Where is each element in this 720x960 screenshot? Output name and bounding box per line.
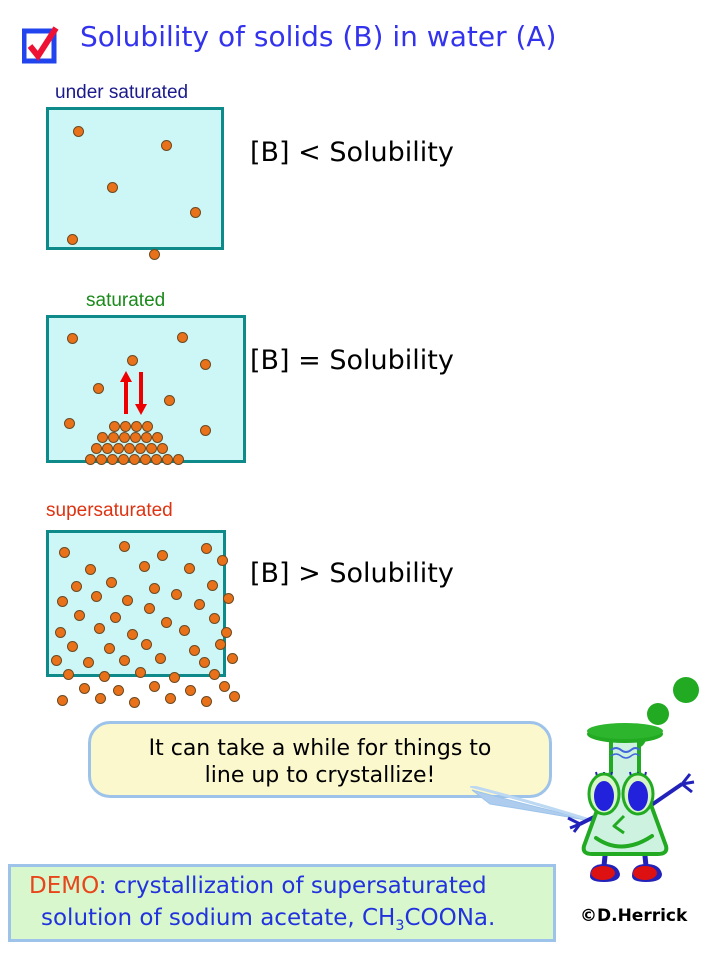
solute-particle: [215, 639, 226, 650]
speech-line-2: line up to crystallize!: [205, 763, 436, 788]
solute-particle: [169, 672, 180, 683]
solute-particle: [190, 207, 201, 218]
solute-particle: [209, 613, 220, 624]
bubble-large-icon: [673, 677, 699, 703]
undissolved-solid-particle: [162, 454, 173, 465]
solute-particle: [67, 641, 78, 652]
slide-title-row: Solubility of solids (B) in water (A): [22, 22, 682, 70]
solute-particle: [99, 671, 110, 682]
undissolved-solid-particle: [135, 443, 146, 454]
solute-particle: [149, 583, 160, 594]
solute-particle: [141, 639, 152, 650]
undissolved-solid-particle: [151, 454, 162, 465]
undissolved-solid-particle: [152, 432, 163, 443]
undissolved-solid-particle: [124, 443, 135, 454]
demo-keyword: DEMO: [29, 873, 99, 899]
solute-particle: [83, 657, 94, 668]
solute-particle: [184, 563, 195, 574]
solute-particle: [200, 359, 211, 370]
solute-particle: [104, 643, 115, 654]
solute-particle: [94, 623, 105, 634]
solute-particle: [219, 681, 230, 692]
undissolved-solid-particle: [96, 454, 107, 465]
undissolved-solid-particle: [109, 421, 120, 432]
solute-particle: [144, 603, 155, 614]
undissolved-solid-particle: [85, 454, 96, 465]
solute-particle: [57, 695, 68, 706]
solute-particle: [229, 691, 240, 702]
solute-particle: [164, 395, 175, 406]
solute-particle: [227, 653, 238, 664]
bubble-medium-icon: [647, 703, 669, 725]
equation-under-saturated: [B] < Solubility: [250, 137, 454, 168]
panel-label-saturated: saturated: [86, 290, 165, 312]
speech-line-1: It can take a while for things to: [149, 736, 492, 761]
demo-box: DEMO: crystallization of supersaturated …: [8, 864, 556, 942]
solute-particle: [113, 685, 124, 696]
solute-particle: [73, 126, 84, 137]
solute-particle: [185, 685, 196, 696]
copyright-credit: ©D.Herrick: [580, 906, 687, 926]
solute-particle: [171, 589, 182, 600]
undissolved-solid-particle: [91, 443, 102, 454]
solute-particle: [135, 667, 146, 678]
panel-label-under-saturated: under saturated: [55, 82, 188, 104]
panel-label-supersaturated: supersaturated: [46, 500, 173, 522]
solute-particle: [139, 561, 150, 572]
solute-particle: [63, 669, 74, 680]
demo-line-2-before: solution of sodium acetate, CH: [41, 905, 395, 931]
undissolved-solid-particle: [118, 454, 129, 465]
panel-supersaturated: supersaturated [B] > Solubility: [46, 500, 466, 690]
erlenmeyer-flask-character: [558, 676, 720, 888]
undissolved-solid-particle: [120, 421, 131, 432]
beaker-saturated: [46, 315, 246, 463]
undissolved-solid-particle: [173, 454, 184, 465]
solute-particle: [64, 418, 75, 429]
solute-particle: [223, 593, 234, 604]
solute-particle: [217, 555, 228, 566]
solute-particle: [194, 599, 205, 610]
demo-line-1-rest: : crystallization of supersaturated: [99, 873, 487, 899]
undissolved-solid-particle: [102, 443, 113, 454]
equation-supersaturated: [B] > Solubility: [250, 558, 454, 589]
solute-particle: [59, 547, 70, 558]
panel-under-saturated: under saturated [B] < Solubility: [46, 82, 466, 262]
solute-particle: [221, 627, 232, 638]
solute-particle: [107, 182, 118, 193]
demo-line-2-after: COONa.: [404, 905, 495, 931]
solute-particle: [110, 612, 121, 623]
solute-particle: [200, 425, 211, 436]
solute-particle: [129, 697, 140, 708]
demo-subscript: 3: [395, 918, 404, 934]
solute-particle: [127, 355, 138, 366]
undissolved-solid-particle: [131, 421, 142, 432]
solute-particle: [179, 625, 190, 636]
solute-particle: [119, 655, 130, 666]
undissolved-solid-particle: [146, 443, 157, 454]
equation-saturated: [B] = Solubility: [250, 345, 454, 376]
equilibrium-double-arrow-icon: [117, 370, 151, 416]
solute-particle: [149, 681, 160, 692]
undissolved-solid-particle: [142, 421, 153, 432]
solute-particle: [67, 234, 78, 245]
solute-particle: [51, 655, 62, 666]
solute-particle: [201, 696, 212, 707]
solute-particle: [209, 669, 220, 680]
demo-line-2: solution of sodium acetate, CH3COONa.: [41, 905, 495, 931]
undissolved-solid-particle: [107, 454, 118, 465]
solute-particle: [57, 596, 68, 607]
solute-particle: [71, 581, 82, 592]
undissolved-solid-particle: [119, 432, 130, 443]
solute-particle: [161, 617, 172, 628]
beaker-under-saturated: [46, 107, 224, 250]
solute-particle: [119, 541, 130, 552]
undissolved-solid-particle: [141, 432, 152, 443]
demo-line-1: DEMO: crystallization of supersaturated: [29, 873, 487, 899]
solute-particle: [122, 595, 133, 606]
arm-right: [650, 784, 682, 806]
speech-bubble-text: It can take a while for things to line u…: [91, 735, 549, 789]
undissolved-solid-particle: [130, 432, 141, 443]
solute-particle: [189, 645, 200, 656]
undissolved-solid-particle: [113, 443, 124, 454]
solute-particle: [207, 580, 218, 591]
solute-particle: [93, 383, 104, 394]
solute-particle: [79, 683, 90, 694]
solute-particle: [155, 653, 166, 664]
beaker-supersaturated: [46, 530, 226, 677]
solute-particle: [165, 693, 176, 704]
solute-particle: [106, 577, 117, 588]
solute-particle: [149, 249, 160, 260]
solute-particle: [199, 657, 210, 668]
solute-particle: [55, 627, 66, 638]
undissolved-solid-particle: [140, 454, 151, 465]
undissolved-solid-particle: [157, 443, 168, 454]
solute-particle: [95, 693, 106, 704]
solute-particle: [161, 140, 172, 151]
undissolved-solid-particle: [129, 454, 140, 465]
panel-saturated: saturated [B] = Solubility: [46, 290, 466, 470]
solute-particle: [67, 333, 78, 344]
solute-particle: [74, 610, 85, 621]
solute-particle: [127, 629, 138, 640]
solute-particle: [157, 550, 168, 561]
undissolved-solid-particle: [97, 432, 108, 443]
solute-particle: [85, 564, 96, 575]
checked-checkbox-icon: [22, 25, 62, 65]
page-title: Solubility of solids (B) in water (A): [80, 20, 556, 53]
solute-particle: [177, 332, 188, 343]
solute-particle: [91, 591, 102, 602]
undissolved-solid-particle: [108, 432, 119, 443]
solute-particle: [201, 543, 212, 554]
